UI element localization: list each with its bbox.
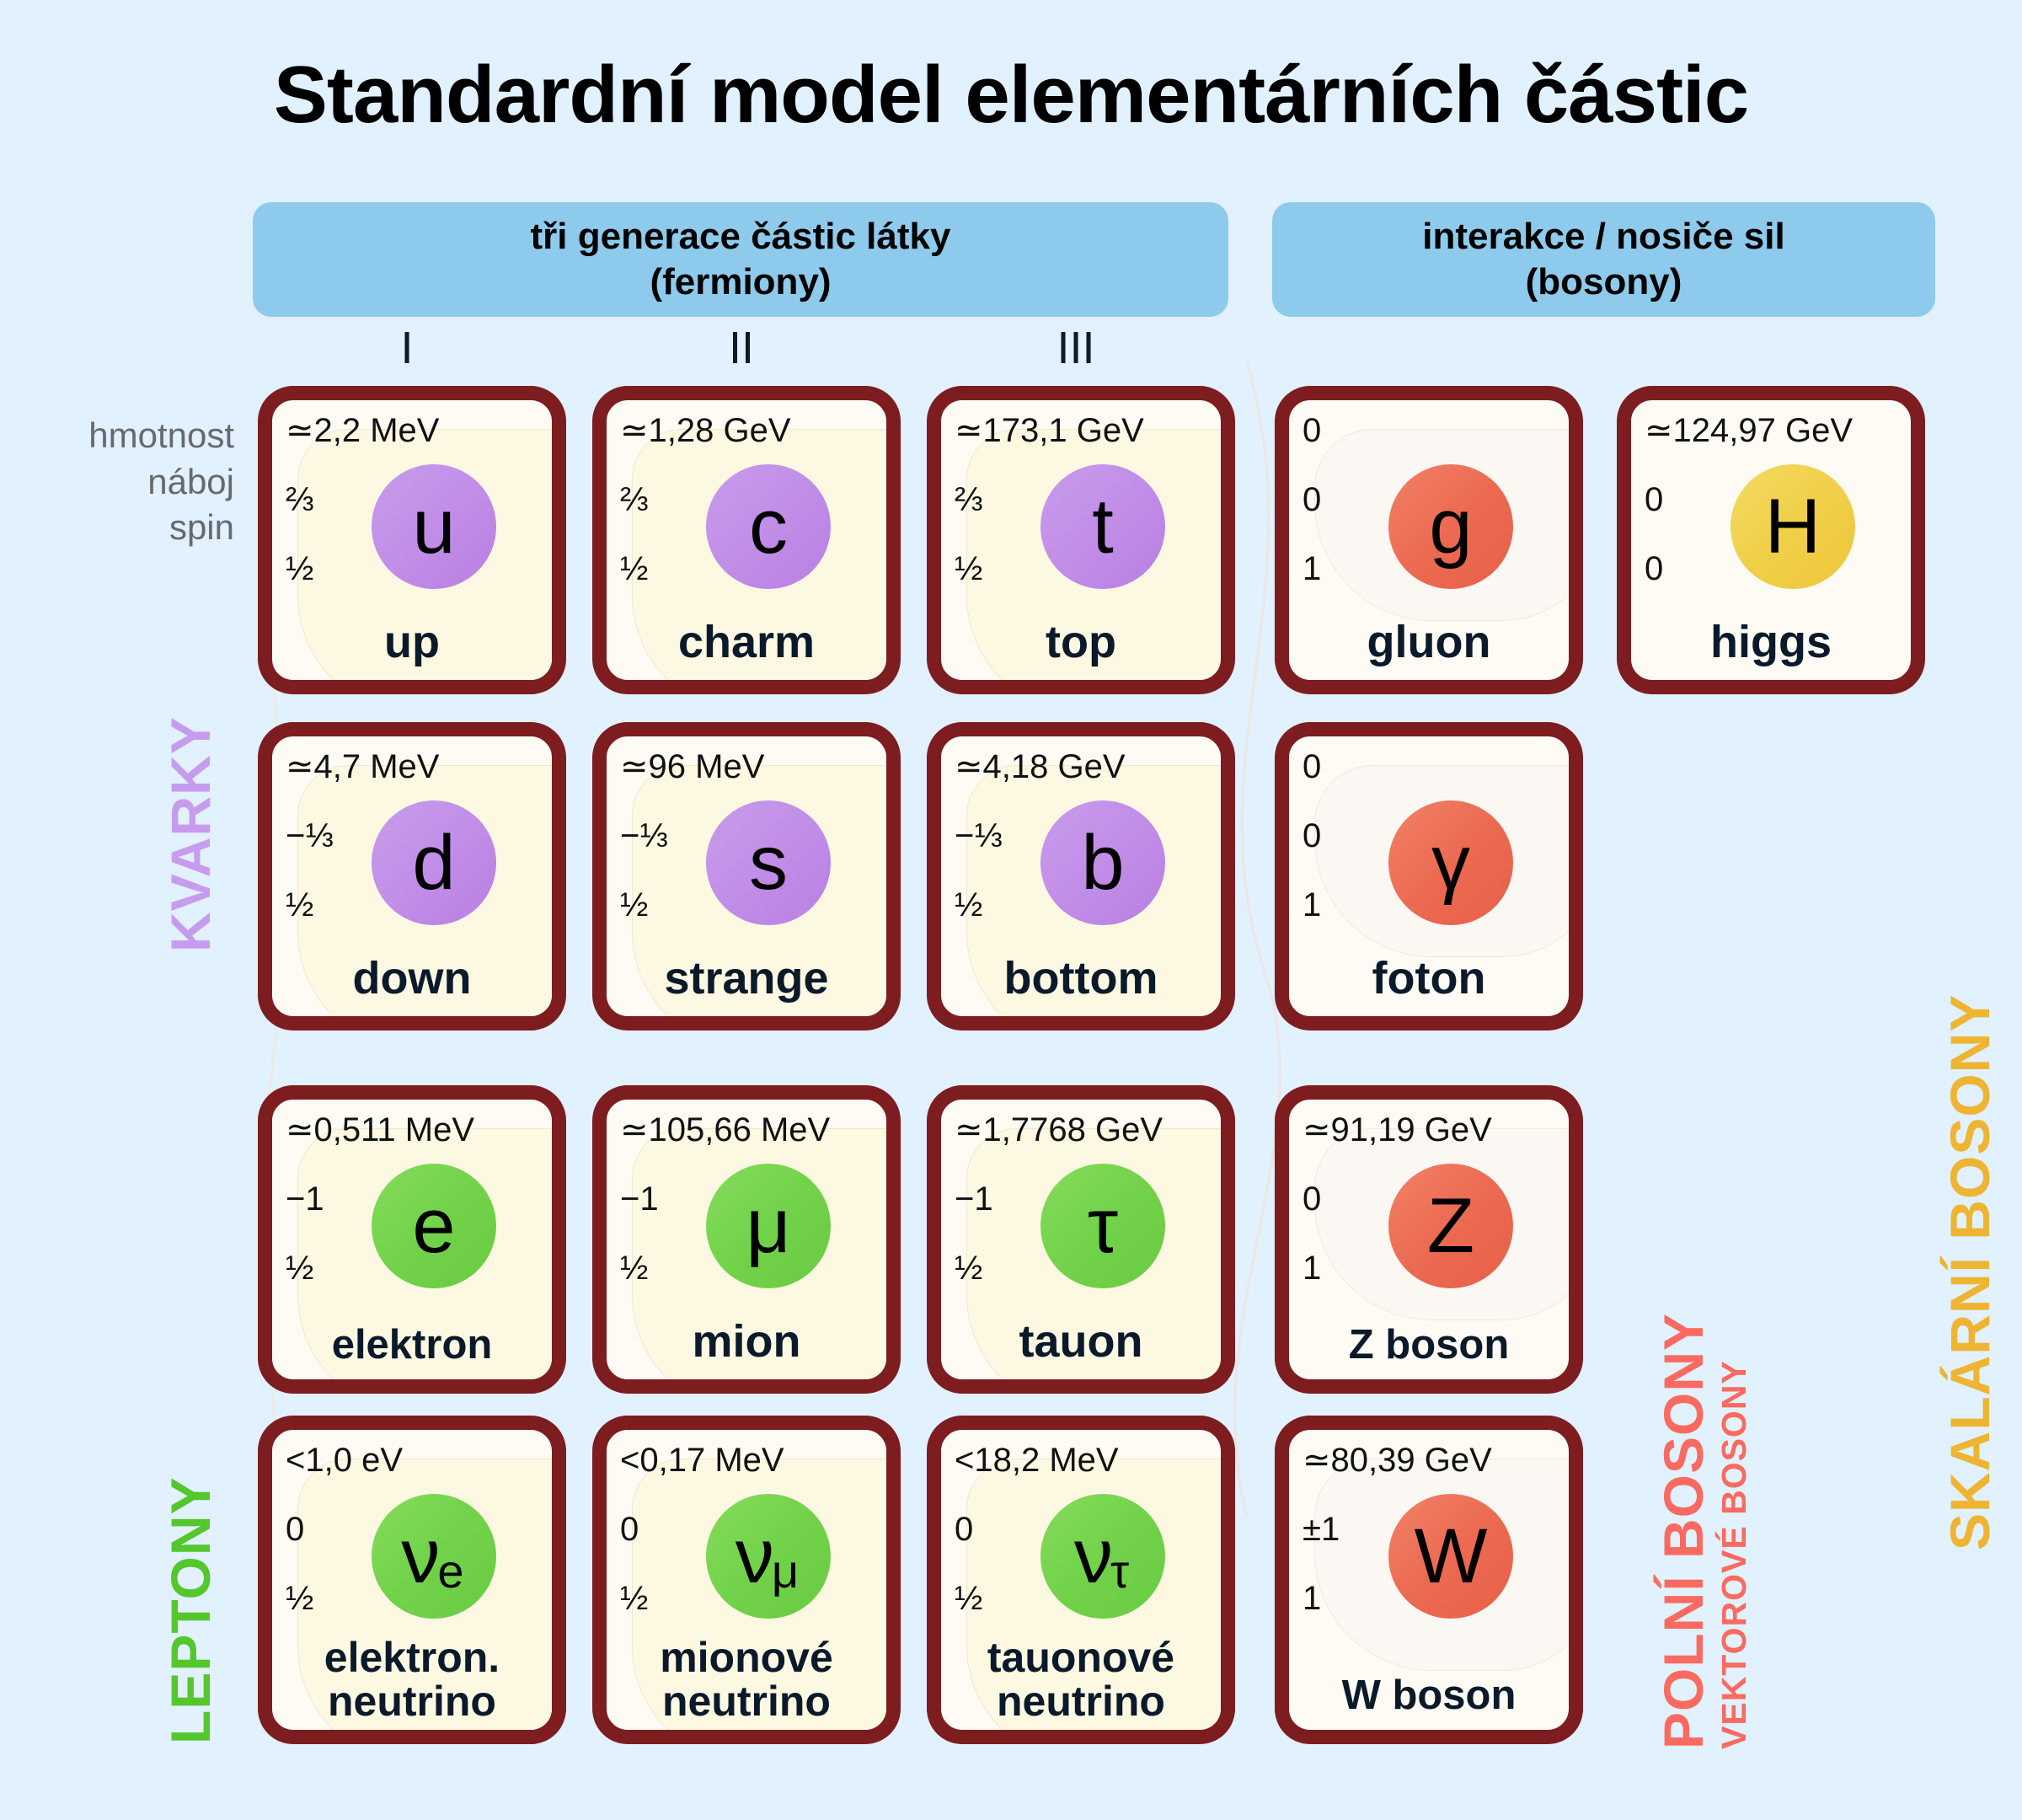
particle-card-down[interactable]: ≃4,7 MeV −⅓ ½ d down (258, 722, 566, 1030)
header-bosons-line2: (bosony) (1526, 260, 1682, 305)
particle-name: gluon (1289, 619, 1569, 666)
group-label-leptons: LEPTONY (158, 1476, 222, 1744)
particle-symbol-orb: Z (1388, 1164, 1513, 1288)
mass-value: ≃4,7 MeV (286, 750, 439, 784)
particle-symbol: ν (1074, 1518, 1113, 1595)
particle-name: elektron. neutrino (272, 1636, 552, 1723)
charge-value: 0 (1303, 483, 1321, 517)
spin-value: 1 (1303, 888, 1321, 922)
particle-card-tauonove-neutrino[interactable]: <18,2 MeV 0 ½ ντ tauonové neutrino (927, 1416, 1235, 1744)
generation-numeral-2: II (691, 322, 792, 374)
particle-name: mion (607, 1319, 886, 1366)
particle-symbol: g (1429, 488, 1472, 565)
header-fermions: tři generace částic látky (fermiony) (253, 202, 1228, 317)
particle-name: higgs (1631, 619, 1911, 666)
mass-value: ≃1,28 GeV (620, 414, 791, 447)
particle-symbol-orb: τ (1040, 1164, 1165, 1288)
particle-name: bottom (941, 955, 1221, 1003)
generation-numeral-1: I (356, 322, 457, 374)
card-stats: 0 0 1 (1303, 750, 1321, 922)
particle-symbol: H (1765, 488, 1821, 565)
particle-name: down (272, 955, 552, 1003)
particle-card-bottom[interactable]: ≃4,18 GeV −⅓ ½ b bottom (927, 722, 1235, 1030)
particle-card-elektron[interactable]: ≃0,511 MeV −1 ½ e elektron (258, 1085, 566, 1394)
group-label-vector-bosons: VEKTOROVÉ BOSONY (1714, 1360, 1754, 1749)
particle-card-top[interactable]: ≃173,1 GeV ⅔ ½ t top (927, 386, 1235, 694)
particle-symbol: s (749, 824, 788, 902)
particle-card-mionove-neutrino[interactable]: <0,17 MeV 0 ½ νμ mionové neutrino (592, 1416, 901, 1744)
mass-value: ≃124,97 GeV (1645, 414, 1853, 447)
particle-symbol: ν (401, 1518, 440, 1595)
legend-charge: náboj (25, 459, 234, 506)
mass-value: ≃0,511 MeV (286, 1113, 474, 1147)
particle-card-strange[interactable]: ≃96 MeV −⅓ ½ s strange (592, 722, 901, 1030)
particle-card-mion[interactable]: ≃105,66 MeV −1 ½ μ mion (592, 1085, 901, 1394)
particle-symbol: W (1415, 1518, 1488, 1595)
particle-symbol-orb: t (1040, 464, 1165, 589)
mass-value: ≃173,1 GeV (955, 414, 1144, 447)
particle-card-higgs[interactable]: ≃124,97 GeV 0 0 H higgs (1617, 386, 1925, 694)
particle-symbol-subscript: e (437, 1548, 463, 1595)
particle-symbol: τ (1088, 1187, 1118, 1265)
particle-symbol-orb: e (372, 1164, 496, 1288)
mass-value: 0 (1303, 414, 1321, 447)
particle-symbol-orb: ντ (1040, 1494, 1165, 1619)
particle-symbol-orb: νe (372, 1494, 496, 1619)
mass-value: <0,17 MeV (620, 1443, 784, 1477)
particle-name: foton (1289, 955, 1569, 1003)
particle-name: tauon (941, 1319, 1221, 1366)
mass-value: 0 (1303, 750, 1321, 784)
legend-spin: spin (25, 505, 234, 551)
group-label-quarks: KVARKY (158, 716, 222, 952)
particle-symbol-orb: d (372, 800, 496, 925)
mass-value: ≃91,19 GeV (1303, 1113, 1492, 1147)
particle-symbol-orb: c (706, 464, 831, 589)
generation-numeral-3: III (1025, 322, 1126, 374)
particle-symbol: c (749, 488, 788, 565)
particle-card-w-boson[interactable]: ≃80,39 GeV ±1 1 W W boson (1275, 1416, 1583, 1744)
particle-symbol-orb: γ (1388, 800, 1513, 925)
legend-mass: hmotnost (25, 413, 234, 459)
particle-symbol-orb: g (1388, 464, 1513, 589)
particle-card-charm[interactable]: ≃1,28 GeV ⅔ ½ c charm (592, 386, 901, 694)
mass-value: ≃4,18 GeV (955, 750, 1126, 784)
card-stats: 0 0 1 (1303, 414, 1321, 586)
particle-symbol: d (412, 824, 455, 902)
particle-symbol: μ (746, 1187, 790, 1265)
particle-symbol-orb: s (706, 800, 831, 925)
mass-value: <18,2 MeV (955, 1443, 1119, 1477)
mass-value: <1,0 eV (286, 1443, 403, 1477)
particle-symbol-orb: u (372, 464, 496, 589)
particle-symbol: Z (1427, 1187, 1474, 1265)
particle-card-foton[interactable]: 0 0 1 γ foton (1275, 722, 1583, 1030)
particle-symbol: t (1092, 488, 1114, 565)
particle-symbol-subscript: τ (1110, 1548, 1129, 1595)
particle-name: W boson (1289, 1674, 1569, 1716)
particle-symbol-orb: νμ (706, 1494, 831, 1619)
page-title: Standardní model elementárních částic (0, 49, 2022, 142)
header-bosons-line1: interakce / nosiče sil (1422, 214, 1784, 260)
group-label-field-bosons: POLNÍ BOSONY (1651, 1313, 1715, 1749)
particle-symbol-orb: μ (706, 1164, 831, 1288)
particle-name: strange (607, 955, 886, 1003)
particle-symbol: u (412, 488, 455, 565)
property-legend: hmotnost náboj spin (25, 413, 234, 551)
header-fermions-line1: tři generace částic látky (531, 214, 951, 260)
header-fermions-line2: (fermiony) (650, 260, 831, 305)
mass-value: ≃1,7768 GeV (955, 1113, 1163, 1147)
spin-value: 1 (1303, 552, 1321, 586)
mass-value: ≃2,2 MeV (286, 414, 439, 447)
particle-card-up[interactable]: ≃2,2 MeV ⅔ ½ u up (258, 386, 566, 694)
group-label-scalar-bosons: SKALÁRNÍ BOSONY (1938, 994, 2002, 1550)
particle-symbol-orb: H (1730, 464, 1855, 589)
particle-name: mionové neutrino (607, 1636, 886, 1723)
particle-card-tauon[interactable]: ≃1,7768 GeV −1 ½ τ tauon (927, 1085, 1235, 1394)
standard-model-diagram: Standardní model elementárních částic tř… (0, 0, 2022, 1820)
particle-symbol-orb: b (1040, 800, 1165, 925)
mass-value: ≃80,39 GeV (1303, 1443, 1492, 1477)
particle-name: tauonové neutrino (941, 1636, 1221, 1723)
particle-name: up (272, 619, 552, 666)
particle-symbol-subscript: μ (772, 1548, 799, 1595)
particle-symbol-orb: W (1388, 1494, 1513, 1619)
particle-symbol: γ (1431, 824, 1470, 902)
particle-card-gluon[interactable]: 0 0 1 g gluon (1275, 386, 1583, 694)
charge-value: 0 (1303, 819, 1321, 853)
particle-name: charm (607, 619, 886, 666)
particle-symbol: b (1081, 824, 1124, 902)
header-bosons: interakce / nosiče sil (bosony) (1272, 202, 1935, 317)
particle-card-elektronove-neutrino[interactable]: <1,0 eV 0 ½ νe elektron. neutrino (258, 1416, 566, 1744)
particle-name: elektron (272, 1324, 552, 1366)
particle-card-z-boson[interactable]: ≃91,19 GeV 0 1 Z Z boson (1275, 1085, 1583, 1394)
particle-symbol: e (412, 1187, 455, 1265)
particle-name: Z boson (1289, 1324, 1569, 1366)
particle-symbol: ν (736, 1518, 774, 1595)
particle-name: top (941, 619, 1221, 666)
mass-value: ≃105,66 MeV (620, 1113, 830, 1147)
mass-value: ≃96 MeV (620, 750, 764, 784)
